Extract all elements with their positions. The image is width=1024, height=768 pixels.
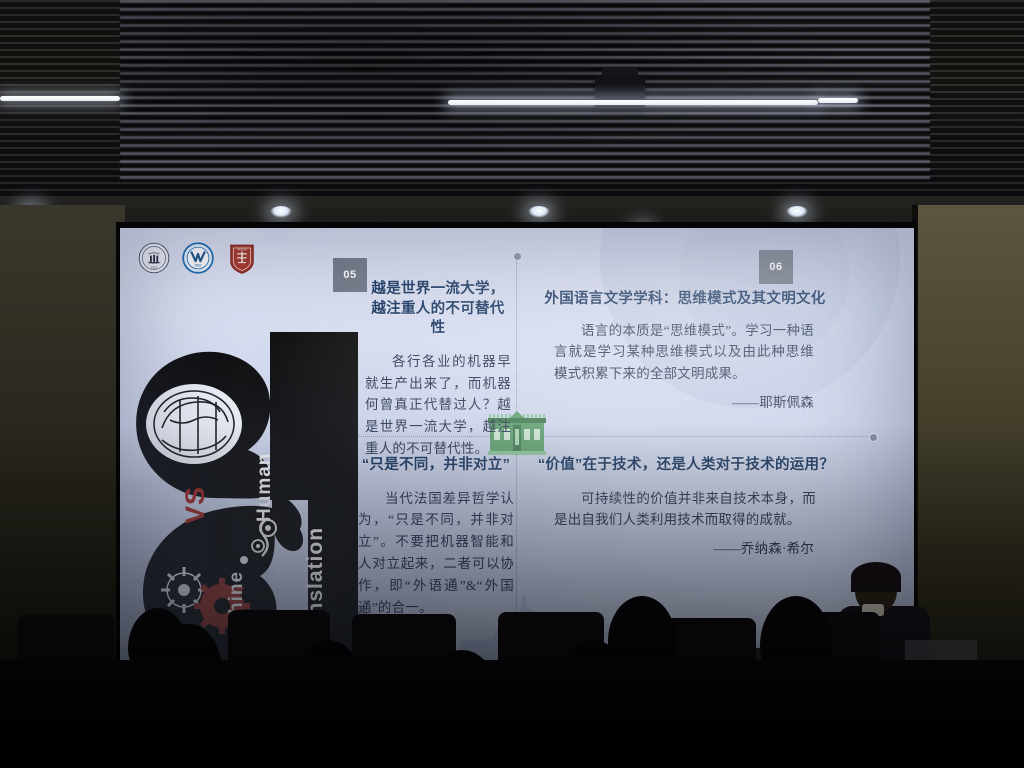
divider-node	[513, 252, 522, 261]
quadrant-05-body: 各行各业的机器早就生产出来了，而机器何曾真正代替过人？越是世界一流大学，越注重人…	[365, 351, 511, 460]
section-badge-06: 06	[759, 250, 793, 284]
quadrant-bottom-right: “价值”在于技术，还是人类对于技术的运用？ 可持续性的价值并非来自技术本身，而是…	[526, 456, 846, 557]
wall-right	[916, 205, 1024, 675]
ceiling	[0, 0, 1024, 205]
quadrant-06: 外国语言文学学科：思维模式及其文明文化 语言的本质是“思维模式”。学习一种语言就…	[530, 290, 840, 411]
quadrant-06-attribution: ——耶斯佩森	[530, 391, 814, 411]
ceiling-downlight	[528, 206, 550, 218]
ceiling-acoustic-panel	[120, 0, 930, 180]
peking-university-seal-icon: 1915	[138, 242, 170, 274]
divider-node	[869, 433, 878, 442]
quadrant-bottom-right-body: 可持续性的价值并非来自技术本身，而是出自我们人类利用技术而取得的成就。	[554, 488, 816, 532]
quadrant-bottom-left: “只是不同，并非对立” 当代法国差异哲学认为，“只是不同，并非对立”。不要把机器…	[358, 456, 514, 619]
speaker-hair	[851, 562, 901, 592]
quadrant-06-body: 语言的本质是“思维模式”。学习一种语言就是学习某种思维模式以及由此种思维模式积累…	[554, 320, 814, 386]
quadrant-05: 越是世界一流大学， 越注重人的不可替代性 各行各业的机器早就生产出来了，而机器何…	[365, 280, 511, 460]
quadrant-bottom-left-body: 当代法国差异哲学认为，“只是不同，并非对立”。不要把机器智能和人对立起来，二者可…	[358, 488, 514, 619]
red-shield-logo-icon: WUHAN	[226, 242, 258, 274]
ceiling-light-tube	[448, 100, 818, 105]
ceiling-downlight	[270, 206, 292, 218]
quadrant-05-title-line1: 越是世界一流大学，	[365, 280, 511, 300]
ceiling-downlight	[786, 206, 808, 218]
quadrant-06-title: 外国语言文学学科：思维模式及其文明文化	[530, 290, 840, 310]
quadrant-bottom-right-attribution: ——乔纳森·希尔	[526, 537, 814, 557]
floor-shadow	[0, 660, 1024, 768]
svg-text:WUHAN: WUHAN	[237, 247, 247, 251]
svg-text:1962: 1962	[194, 263, 201, 267]
ceiling-light-tube	[0, 96, 120, 101]
quadrant-05-title: 越是世界一流大学， 越注重人的不可替代性	[365, 280, 511, 339]
vy-blue-circle-logo-icon: 1962	[182, 242, 214, 274]
lecture-hall-photo: 1915 1962 WUHAN 05 06	[0, 0, 1024, 768]
quadrant-bottom-right-title: “价值”在于技术，还是人类对于技术的运用？	[526, 456, 846, 476]
ceiling-light-tube	[818, 98, 858, 103]
wall-left	[0, 205, 125, 675]
svg-text:Human: Human	[254, 453, 275, 522]
divider-horizontal-dotted	[272, 436, 872, 437]
quadrant-05-title-line2: 越注重人的不可替代性	[365, 300, 511, 339]
section-badge-05: 05	[333, 258, 367, 292]
quadrant-bottom-left-title: “只是不同，并非对立”	[358, 456, 514, 476]
svg-text:1915: 1915	[151, 266, 158, 270]
institution-logos: 1915 1962 WUHAN	[138, 242, 258, 274]
svg-text:VS: VS	[180, 486, 210, 524]
